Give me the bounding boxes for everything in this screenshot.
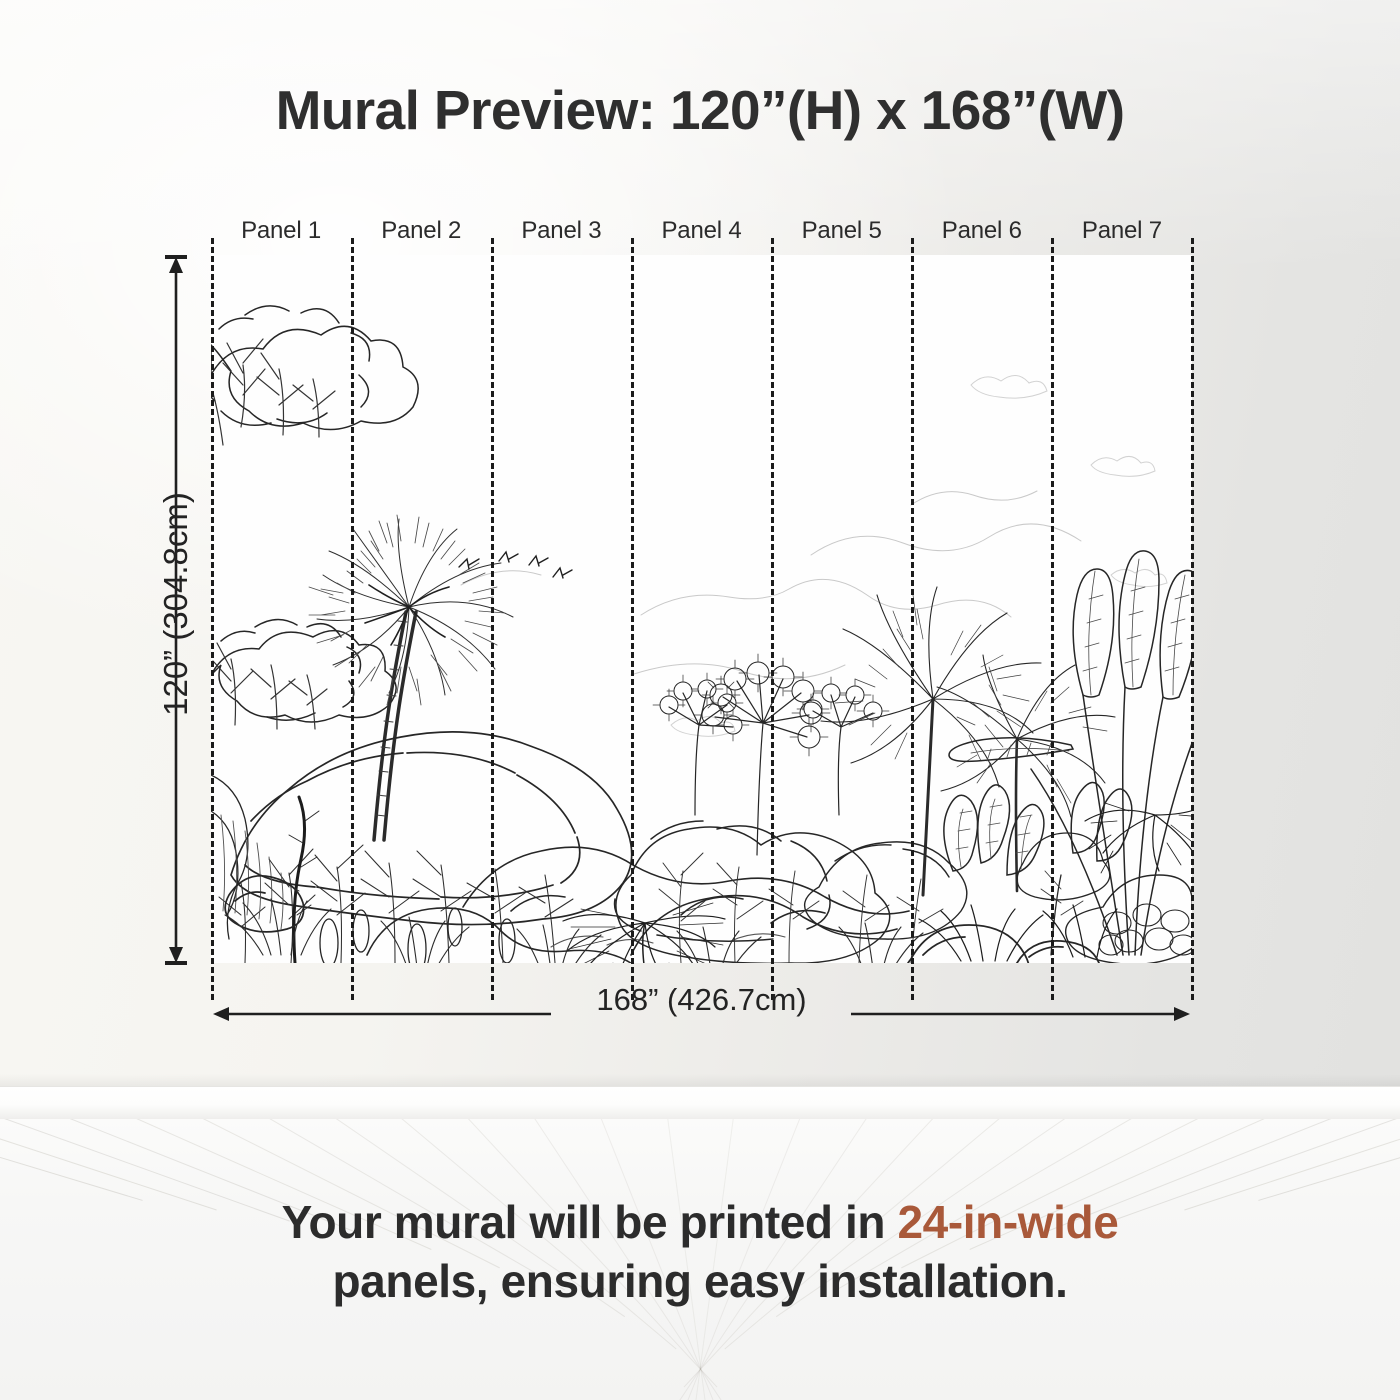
panel-divider-0 <box>211 238 214 1000</box>
height-dimension: 120” (304.8cm) <box>156 255 198 965</box>
white-baseboard <box>0 1086 1400 1119</box>
panel-divider-7 <box>1191 238 1194 1000</box>
panel-divider-1 <box>351 238 354 1000</box>
width-dimension: 168” (426.7cm) <box>211 986 1192 1030</box>
page-title: Mural Preview: 120”(H) x 168”(W) <box>0 78 1400 142</box>
mural-preview-scene: Mural Preview: 120”(H) x 168”(W) Panel 1… <box>0 0 1400 1400</box>
caption-line-1: Your mural will be printed in 24-in-wide <box>0 1193 1400 1252</box>
panel-divider-2 <box>491 238 494 1000</box>
height-dimension-label: 120” (304.8cm) <box>157 284 195 924</box>
panel-divider-5 <box>911 238 914 1000</box>
panel-divider-3 <box>631 238 634 1000</box>
caption-accent: 24-in-wide <box>897 1196 1118 1248</box>
width-arrow <box>211 998 1192 1042</box>
caption-line-2: panels, ensuring easy installation. <box>0 1252 1400 1311</box>
caption: Your mural will be printed in 24-in-wide… <box>0 1193 1400 1311</box>
panel-divider-4 <box>771 238 774 1000</box>
panel-divider-6 <box>1051 238 1054 1000</box>
panel-divider-group <box>0 238 1400 1000</box>
caption-prefix: Your mural will be printed in <box>282 1196 898 1248</box>
